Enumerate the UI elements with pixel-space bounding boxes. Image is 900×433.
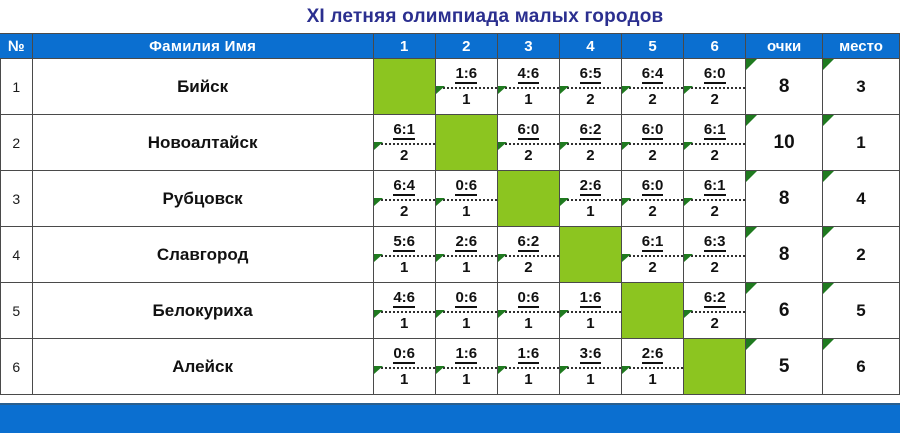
cell-divider	[498, 255, 559, 257]
match-points: 2	[400, 148, 408, 164]
self-cell	[622, 283, 684, 339]
header-opponent-6: 6	[684, 34, 746, 59]
match-cell: 6:02	[684, 59, 746, 115]
match-points: 1	[462, 316, 470, 332]
row-number: 2	[1, 115, 33, 171]
match-score: 6:1	[704, 122, 726, 140]
match-points: 2	[710, 260, 718, 276]
match-score: 1:6	[580, 290, 602, 308]
match-score: 1:6	[455, 346, 477, 364]
match-cell: 6:42	[373, 171, 435, 227]
match-score: 1:6	[518, 346, 540, 364]
cell-divider	[436, 367, 497, 369]
cell-divider	[374, 255, 435, 257]
match-points: 1	[462, 260, 470, 276]
header-opponent-3: 3	[497, 34, 559, 59]
cell-divider	[560, 199, 621, 201]
header-place: место	[823, 34, 900, 59]
cell-divider	[684, 311, 745, 313]
match-points: 1	[586, 204, 594, 220]
match-score: 0:6	[455, 178, 477, 196]
match-points: 2	[710, 316, 718, 332]
total-points-value: 8	[779, 188, 790, 209]
title-bar: XI летняя олимпиада малых городов	[0, 0, 900, 33]
final-place: 3	[823, 59, 900, 115]
team-name: Алейск	[32, 339, 373, 395]
total-points-value: 10	[774, 132, 795, 153]
match-points: 1	[400, 316, 408, 332]
cell-divider	[436, 199, 497, 201]
match-cell: 2:61	[622, 339, 684, 395]
total-points-value: 8	[779, 244, 790, 265]
match-score: 4:6	[393, 290, 415, 308]
match-points: 2	[710, 204, 718, 220]
match-points: 1	[524, 372, 532, 388]
total-points: 6	[746, 283, 823, 339]
cell-divider	[560, 311, 621, 313]
self-cell	[684, 339, 746, 395]
comment-marker-icon	[560, 142, 569, 150]
cell-divider	[374, 199, 435, 201]
table-row: 2Новоалтайск6:126:026:226:026:12101	[1, 115, 900, 171]
table-row: 3Рубцовск6:420:612:616:026:1284	[1, 171, 900, 227]
comment-marker-icon	[684, 254, 693, 262]
match-cell: 5:61	[373, 227, 435, 283]
final-place: 2	[823, 227, 900, 283]
team-name: Новоалтайск	[32, 115, 373, 171]
header-name: Фамилия Имя	[32, 34, 373, 59]
match-points: 2	[524, 260, 532, 276]
match-cell: 1:61	[435, 59, 497, 115]
match-points: 2	[648, 260, 656, 276]
standings-table: № Фамилия Имя 1 2 3 4 5 6 очки место 1Би…	[0, 33, 900, 395]
comment-marker-icon	[498, 86, 507, 94]
match-score: 6:2	[580, 122, 602, 140]
total-points: 8	[746, 59, 823, 115]
cell-divider	[374, 143, 435, 145]
match-score: 5:6	[393, 234, 415, 252]
final-place-value: 6	[856, 357, 865, 376]
row-number: 1	[1, 59, 33, 115]
final-place: 6	[823, 339, 900, 395]
footer-bar	[0, 403, 900, 433]
cell-divider	[436, 311, 497, 313]
match-points: 1	[462, 92, 470, 108]
page-title: XI летняя олимпиада малых городов	[307, 6, 664, 28]
comment-marker-icon	[684, 198, 693, 206]
cell-divider	[498, 143, 559, 145]
team-name: Славгород	[32, 227, 373, 283]
match-score: 6:5	[580, 66, 602, 84]
comment-marker-icon	[436, 366, 445, 374]
comment-marker-icon	[622, 142, 631, 150]
comment-marker-icon	[684, 142, 693, 150]
cell-divider	[560, 143, 621, 145]
standings-page: XI летняя олимпиада малых городов № Фами…	[0, 0, 900, 433]
match-points: 1	[462, 372, 470, 388]
match-cell: 6:22	[684, 283, 746, 339]
match-score: 4:6	[518, 66, 540, 84]
match-score: 6:0	[642, 122, 664, 140]
match-points: 1	[648, 372, 656, 388]
match-cell: 0:61	[497, 283, 559, 339]
table-row: 4Славгород5:612:616:226:126:3282	[1, 227, 900, 283]
match-score: 6:4	[642, 66, 664, 84]
match-score: 6:1	[642, 234, 664, 252]
header-row: № Фамилия Имя 1 2 3 4 5 6 очки место	[1, 34, 900, 59]
cell-divider	[684, 143, 745, 145]
match-points: 1	[524, 316, 532, 332]
cell-divider	[622, 143, 683, 145]
self-cell	[497, 171, 559, 227]
cell-divider	[498, 367, 559, 369]
header-opponent-2: 2	[435, 34, 497, 59]
match-score: 2:6	[455, 234, 477, 252]
total-points-value: 6	[779, 300, 790, 321]
match-points: 1	[462, 204, 470, 220]
match-score: 2:6	[642, 346, 664, 364]
self-cell	[373, 59, 435, 115]
comment-marker-icon	[622, 254, 631, 262]
comment-marker-icon	[436, 254, 445, 262]
match-cell: 6:02	[622, 171, 684, 227]
comment-marker-icon	[436, 310, 445, 318]
match-cell: 0:61	[373, 339, 435, 395]
match-points: 2	[710, 148, 718, 164]
match-cell: 6:12	[622, 227, 684, 283]
match-points: 1	[586, 316, 594, 332]
final-place-value: 4	[856, 189, 865, 208]
cell-divider	[684, 87, 745, 89]
cell-divider	[622, 87, 683, 89]
match-points: 2	[648, 148, 656, 164]
table-row: 6Алейск0:611:611:613:612:6156	[1, 339, 900, 395]
match-score: 0:6	[518, 290, 540, 308]
match-cell: 6:32	[684, 227, 746, 283]
cell-divider	[498, 311, 559, 313]
cell-divider	[622, 367, 683, 369]
comment-marker-icon	[374, 366, 383, 374]
comment-marker-icon	[746, 227, 757, 238]
comment-marker-icon	[746, 339, 757, 350]
match-points: 2	[586, 148, 594, 164]
comment-marker-icon	[498, 142, 507, 150]
match-cell: 1:61	[559, 283, 621, 339]
header-num: №	[1, 34, 33, 59]
comment-marker-icon	[823, 339, 834, 350]
cell-divider	[622, 199, 683, 201]
match-cell: 6:12	[373, 115, 435, 171]
team-name: Белокуриха	[32, 283, 373, 339]
match-cell: 0:61	[435, 171, 497, 227]
match-cell: 6:42	[622, 59, 684, 115]
match-cell: 6:02	[497, 115, 559, 171]
comment-marker-icon	[746, 59, 757, 70]
header-opponent-4: 4	[559, 34, 621, 59]
header-opponent-1: 1	[373, 34, 435, 59]
match-cell: 6:12	[684, 115, 746, 171]
match-score: 6:2	[704, 290, 726, 308]
match-cell: 0:61	[435, 283, 497, 339]
cell-divider	[560, 87, 621, 89]
match-score: 6:0	[642, 178, 664, 196]
row-number: 4	[1, 227, 33, 283]
comment-marker-icon	[823, 227, 834, 238]
comment-marker-icon	[560, 198, 569, 206]
match-points: 1	[400, 260, 408, 276]
self-cell	[559, 227, 621, 283]
match-score: 0:6	[393, 346, 415, 364]
cell-divider	[436, 255, 497, 257]
comment-marker-icon	[498, 366, 507, 374]
header-points: очки	[746, 34, 823, 59]
match-score: 0:6	[455, 290, 477, 308]
total-points: 10	[746, 115, 823, 171]
final-place-value: 1	[856, 133, 865, 152]
cell-divider	[622, 255, 683, 257]
total-points: 5	[746, 339, 823, 395]
cell-divider	[374, 311, 435, 313]
match-points: 1	[524, 92, 532, 108]
comment-marker-icon	[374, 254, 383, 262]
match-points: 2	[710, 92, 718, 108]
cell-divider	[560, 367, 621, 369]
total-points: 8	[746, 171, 823, 227]
comment-marker-icon	[498, 254, 507, 262]
comment-marker-icon	[823, 171, 834, 182]
comment-marker-icon	[436, 198, 445, 206]
match-score: 3:6	[580, 346, 602, 364]
comment-marker-icon	[823, 115, 834, 126]
total-points-value: 5	[779, 356, 790, 377]
comment-marker-icon	[622, 198, 631, 206]
table-row: 1Бийск1:614:616:526:426:0283	[1, 59, 900, 115]
comment-marker-icon	[436, 86, 445, 94]
comment-marker-icon	[498, 310, 507, 318]
comment-marker-icon	[560, 366, 569, 374]
match-cell: 6:12	[684, 171, 746, 227]
match-points: 2	[524, 148, 532, 164]
team-name: Бийск	[32, 59, 373, 115]
match-score: 6:0	[518, 122, 540, 140]
final-place-value: 5	[856, 301, 865, 320]
comment-marker-icon	[374, 310, 383, 318]
comment-marker-icon	[622, 86, 631, 94]
final-place: 5	[823, 283, 900, 339]
match-score: 6:2	[518, 234, 540, 252]
match-points: 2	[648, 92, 656, 108]
match-cell: 6:02	[622, 115, 684, 171]
match-score: 6:1	[704, 178, 726, 196]
table-header: № Фамилия Имя 1 2 3 4 5 6 очки место	[1, 34, 900, 59]
match-score: 2:6	[580, 178, 602, 196]
comment-marker-icon	[746, 283, 757, 294]
total-points: 8	[746, 227, 823, 283]
match-score: 1:6	[455, 66, 477, 84]
match-score: 6:1	[393, 122, 415, 140]
table-body: 1Бийск1:614:616:526:426:02832Новоалтайск…	[1, 59, 900, 395]
match-cell: 1:61	[435, 339, 497, 395]
comment-marker-icon	[560, 310, 569, 318]
final-place-value: 2	[856, 245, 865, 264]
final-place-value: 3	[856, 77, 865, 96]
self-cell	[435, 115, 497, 171]
comment-marker-icon	[746, 171, 757, 182]
comment-marker-icon	[823, 59, 834, 70]
match-cell: 6:22	[559, 115, 621, 171]
match-cell: 2:61	[435, 227, 497, 283]
comment-marker-icon	[374, 198, 383, 206]
match-cell: 6:52	[559, 59, 621, 115]
header-opponent-5: 5	[622, 34, 684, 59]
cell-divider	[374, 367, 435, 369]
comment-marker-icon	[622, 366, 631, 374]
comment-marker-icon	[684, 310, 693, 318]
match-score: 6:0	[704, 66, 726, 84]
match-cell: 6:22	[497, 227, 559, 283]
comment-marker-icon	[374, 142, 383, 150]
cell-divider	[684, 199, 745, 201]
row-number: 6	[1, 339, 33, 395]
total-points-value: 8	[779, 76, 790, 97]
match-cell: 3:61	[559, 339, 621, 395]
match-points: 1	[586, 372, 594, 388]
row-number: 3	[1, 171, 33, 227]
match-points: 2	[586, 92, 594, 108]
cell-divider	[436, 87, 497, 89]
table-row: 5Белокуриха4:610:610:611:616:2265	[1, 283, 900, 339]
match-score: 6:3	[704, 234, 726, 252]
match-score: 6:4	[393, 178, 415, 196]
match-cell: 1:61	[497, 339, 559, 395]
team-name: Рубцовск	[32, 171, 373, 227]
match-cell: 4:61	[497, 59, 559, 115]
cell-divider	[684, 255, 745, 257]
row-number: 5	[1, 283, 33, 339]
final-place: 1	[823, 115, 900, 171]
cell-divider	[498, 87, 559, 89]
match-points: 2	[648, 204, 656, 220]
match-cell: 2:61	[559, 171, 621, 227]
match-points: 2	[400, 204, 408, 220]
comment-marker-icon	[560, 86, 569, 94]
match-cell: 4:61	[373, 283, 435, 339]
final-place: 4	[823, 171, 900, 227]
match-points: 1	[400, 372, 408, 388]
comment-marker-icon	[746, 115, 757, 126]
comment-marker-icon	[684, 86, 693, 94]
comment-marker-icon	[823, 283, 834, 294]
